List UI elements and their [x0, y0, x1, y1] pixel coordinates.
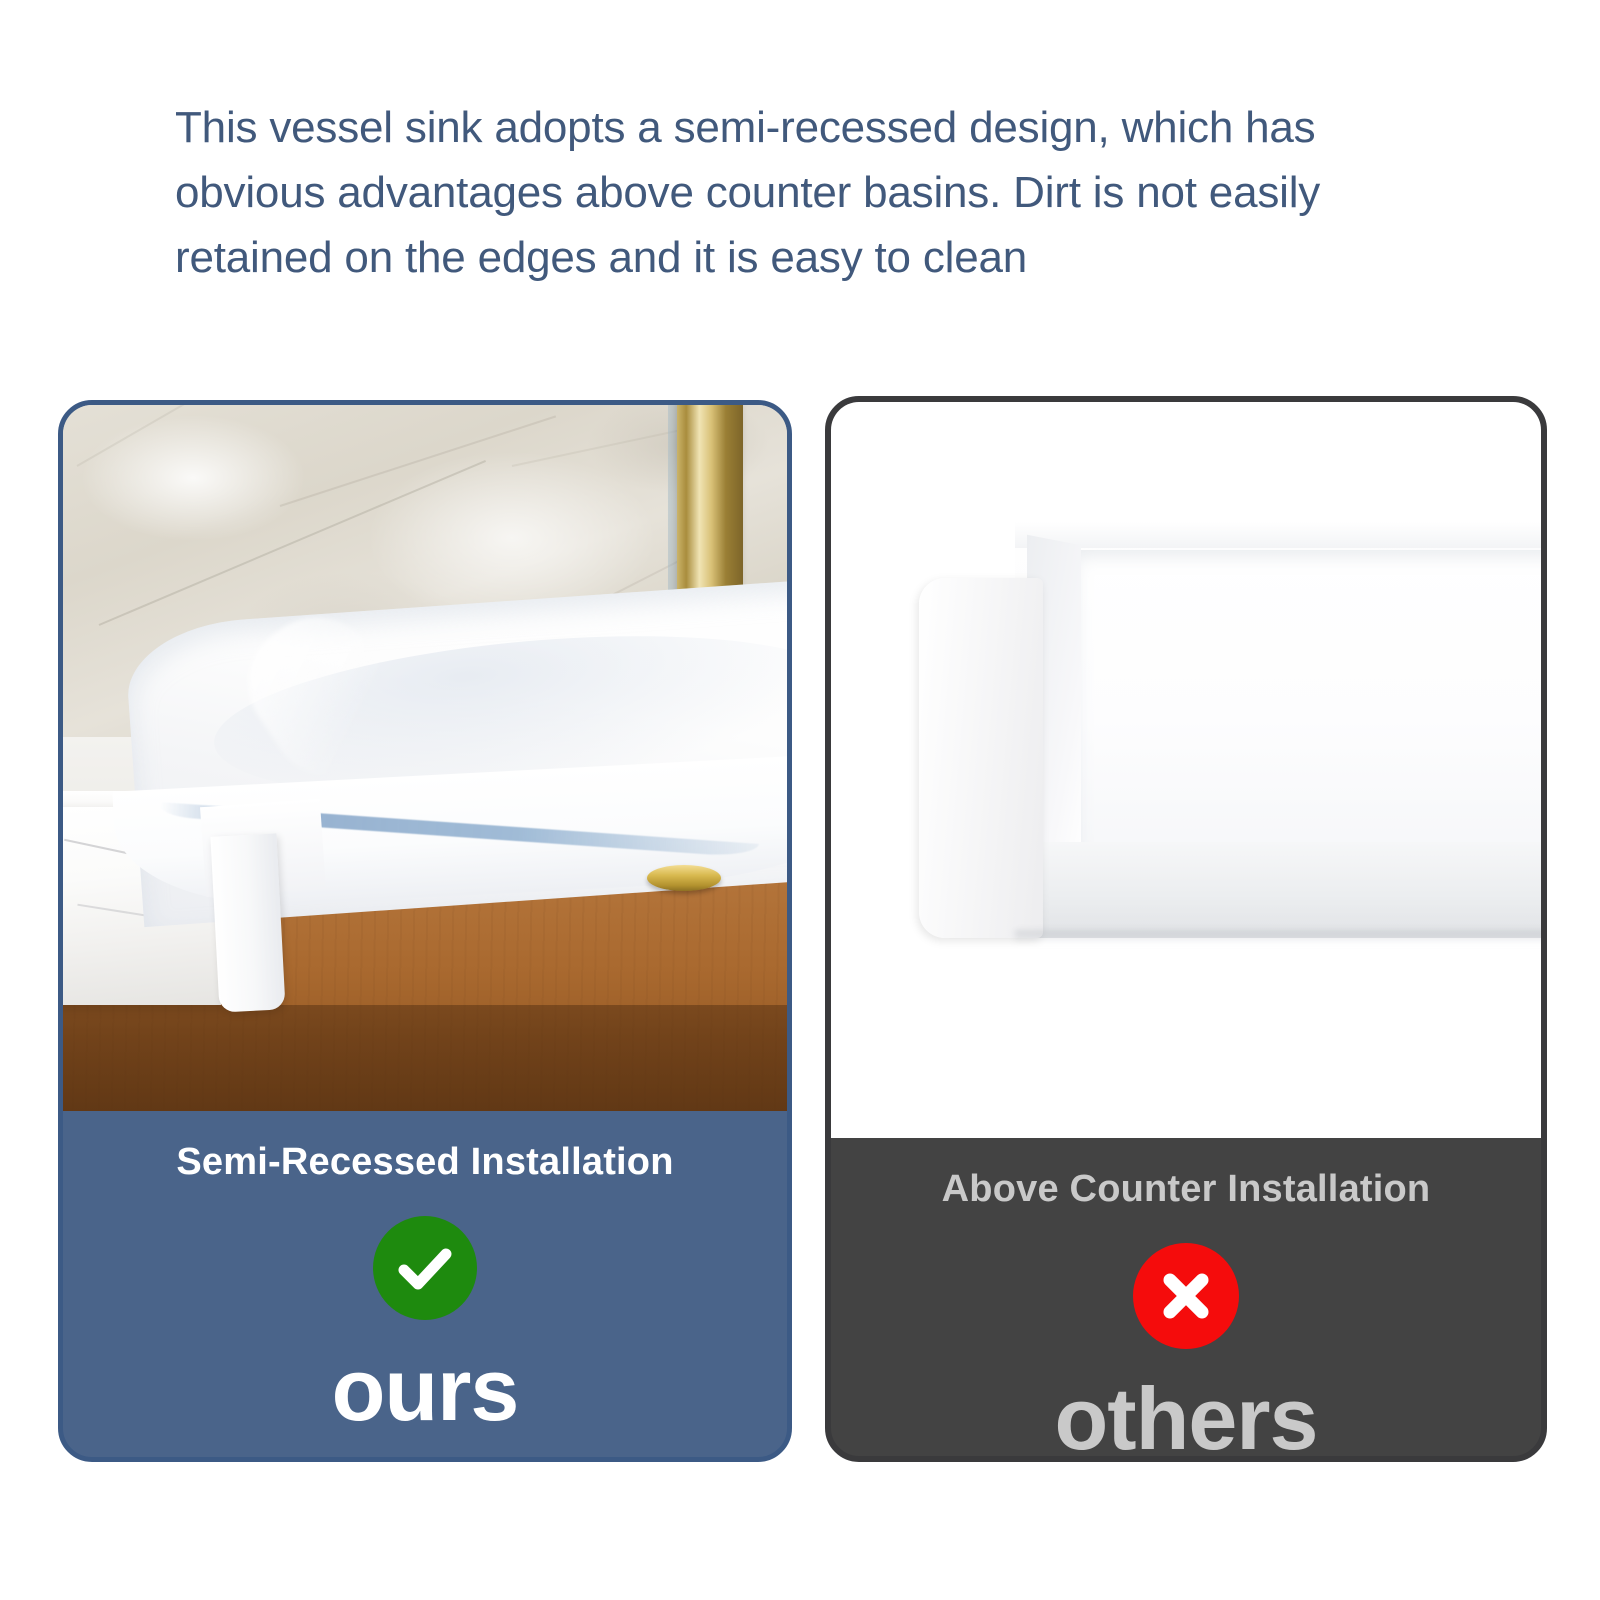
vessel-bottom-face — [1029, 842, 1541, 938]
comparison-card-others: Above Counter Installation others — [825, 396, 1547, 1462]
product-photo-semi-recessed — [63, 405, 787, 1111]
vessel-inner-basin — [1069, 550, 1541, 856]
label-block-others: Above Counter Installation others — [831, 1138, 1541, 1456]
check-icon — [373, 1216, 477, 1320]
sink-support-leg — [210, 833, 285, 1012]
comparison-card-ours: Semi-Recessed Installation ours — [58, 400, 792, 1462]
installation-type-label-others: Above Counter Installation — [831, 1168, 1541, 1211]
above-counter-vessel-sink — [919, 522, 1541, 942]
vessel-front-wall — [919, 578, 1043, 938]
verdict-word-others: others — [831, 1375, 1541, 1462]
product-photo-above-counter — [831, 402, 1541, 1138]
verdict-word-ours: ours — [63, 1346, 787, 1434]
label-block-ours: Semi-Recessed Installation ours — [63, 1111, 787, 1457]
marble-vein — [280, 415, 556, 506]
gold-drain-cap — [647, 865, 721, 891]
marble-vein — [77, 405, 241, 467]
cross-icon — [1133, 1243, 1239, 1349]
marble-vein — [99, 460, 486, 626]
vessel-drop-shadow — [1015, 930, 1541, 944]
vanity-shadow — [63, 1005, 787, 1111]
page-headline: This vessel sink adopts a semi-recessed … — [175, 95, 1395, 290]
vessel-top-edge — [1015, 522, 1541, 548]
installation-type-label-ours: Semi-Recessed Installation — [63, 1141, 787, 1184]
